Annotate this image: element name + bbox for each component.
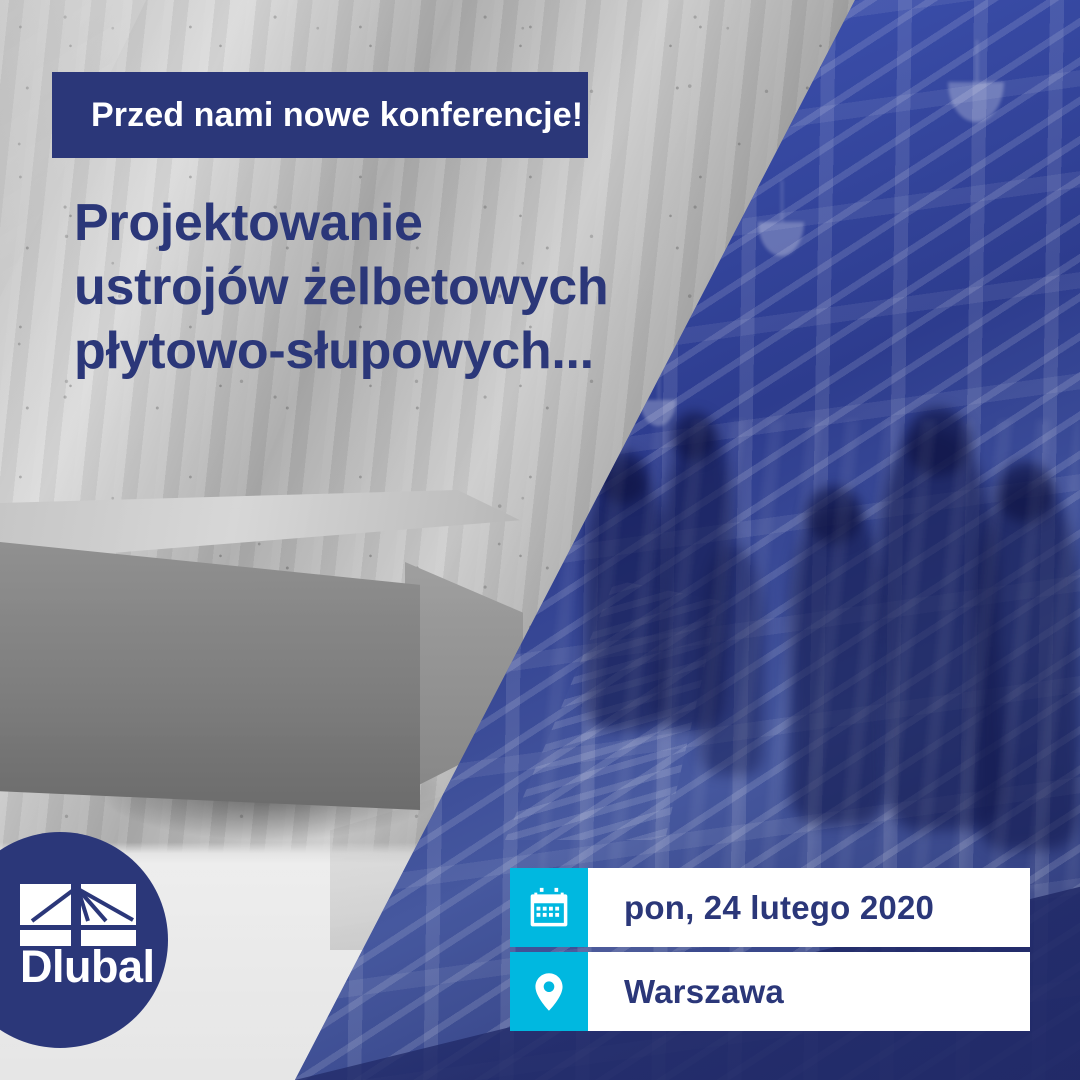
concrete-block-front-face [0,542,420,810]
headline-line-3: płytowo-słupowych... [74,320,674,384]
concrete-block [0,490,520,810]
event-location-row: Warszawa [510,952,1030,1031]
location-pin-icon [510,952,588,1031]
event-date-label: pon, 24 lutego 2020 [588,868,934,947]
motion-blur-overlay [540,420,1080,890]
event-location-label: Warszawa [588,952,784,1031]
poster-canvas: Przed nami nowe konferencje! Projektowan… [0,0,1080,1080]
headline-line-1: Projektowanie [74,192,674,256]
announcement-banner: Przed nami nowe konferencje! [52,72,588,158]
page-title: Projektowanie ustrojów żelbetowych płyto… [74,192,674,384]
announcement-banner-text: Przed nami nowe konferencje! [52,96,583,135]
dlubal-bridge-icon [20,884,136,946]
calendar-icon [510,868,588,947]
dlubal-wordmark: Dlubal [20,944,150,989]
event-date-row: pon, 24 lutego 2020 [510,868,1030,947]
event-details-list: pon, 24 lutego 2020 Warszawa [510,868,1030,1031]
headline-line-2: ustrojów żelbetowych [74,256,674,320]
